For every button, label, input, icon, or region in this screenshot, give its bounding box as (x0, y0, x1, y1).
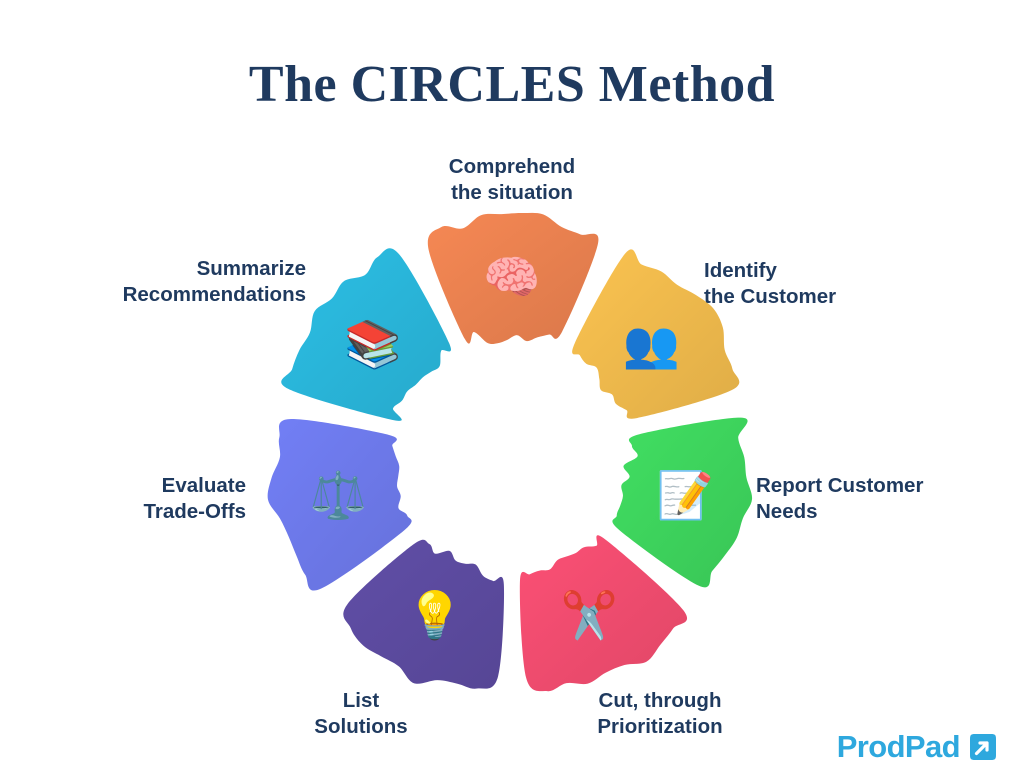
segment-label-cut: Cut, through Prioritization (530, 688, 790, 740)
light-bulb-emoji: 💡 (403, 583, 467, 647)
circles-ring-diagram: 🧠👥📝✂️💡⚖️📚 (262, 205, 762, 705)
prodpad-logo: ProdPad (837, 729, 1000, 765)
books-emoji: 📚 (341, 312, 405, 376)
segment-label-list: List Solutions (238, 688, 484, 740)
infographic-page: The CIRCLES Method 🧠👥📝✂️💡⚖️📚 Comprehend … (0, 0, 1024, 783)
page-title: The CIRCLES Method (0, 56, 1024, 113)
scissors-emoji: ✂️ (557, 583, 621, 647)
brain-emoji: 🧠 (480, 245, 544, 309)
segment-label-evaluate: Evaluate Trade-Offs (10, 473, 246, 525)
segment-label-summarize: Summarize Recommendations (28, 256, 306, 308)
memo-pencil-emoji: 📝 (654, 463, 718, 527)
arrow-in-rounded-square-icon (966, 730, 1000, 764)
balance-scale-emoji: ⚖️ (306, 463, 370, 527)
busts-in-silhouette-emoji: 👥 (619, 312, 683, 376)
segment-label-comprehend: Comprehend the situation (382, 154, 642, 206)
segment-label-identify: Identify the Customer (704, 258, 954, 310)
prodpad-wordmark: ProdPad (837, 729, 960, 765)
segment-label-report: Report Customer Needs (756, 473, 1012, 525)
